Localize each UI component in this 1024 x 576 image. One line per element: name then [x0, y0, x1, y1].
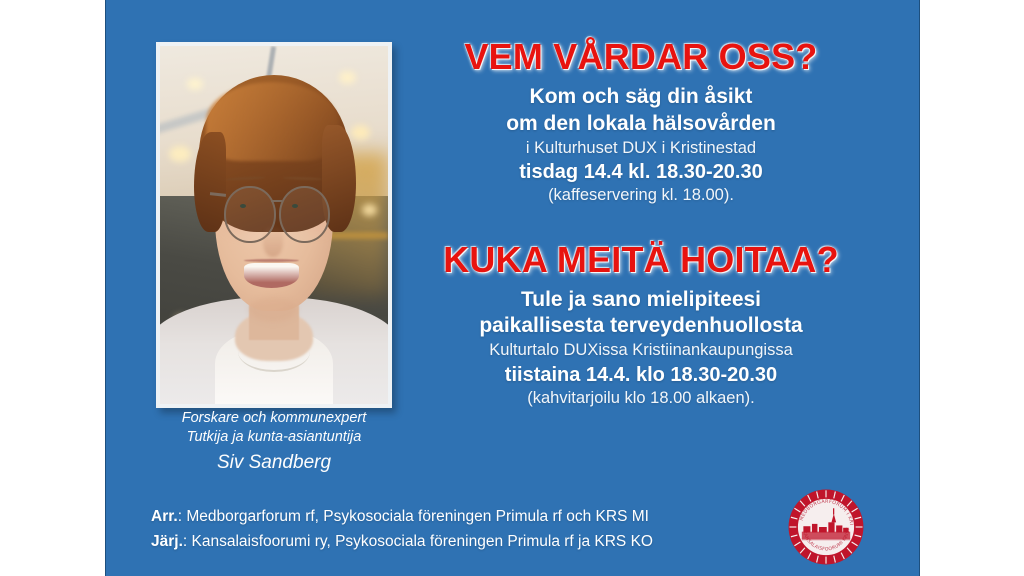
finnish-lead-line-1: Tule ja sano mielipiteesi — [406, 287, 876, 314]
organizers-label-fi: Järj. — [151, 533, 183, 550]
organizers-line-sv: Arr.: Medborgarforum rf, Psykosociala fö… — [151, 504, 771, 529]
finnish-datetime: tiistaina 14.4. klo 18.30-20.30 — [406, 362, 876, 388]
photo-hair-left — [194, 132, 226, 232]
portrait-caption: Forskare och kommunexpert Tutkija ja kun… — [134, 409, 414, 475]
swedish-lead-line-1: Kom och säg din åsikt — [406, 84, 876, 111]
swedish-lead-line-2: om den lokala hälsovården — [406, 111, 876, 138]
portrait-photo-block — [156, 42, 392, 408]
organizers-text-fi: : Kansalaisfoorumi ry, Psykosociala före… — [183, 533, 653, 550]
photo-bokeh-light — [351, 125, 370, 140]
swedish-headline: VEM VÅRDAR OSS? — [406, 38, 876, 76]
organizers-block: Arr.: Medborgarforum rf, Psykosociala fö… — [151, 504, 771, 554]
swedish-venue: i Kulturhuset DUX i Kristinestad — [406, 138, 876, 160]
photo-bokeh-light — [362, 204, 377, 216]
photo-eye-left — [240, 204, 246, 208]
photo-upper-lip — [244, 259, 299, 262]
photo-nose — [263, 225, 284, 257]
finnish-note: (kahvitarjoilu klo 18.00 alkaen). — [406, 388, 876, 409]
poster-slide: Forskare och kommunexpert Tutkija ja kun… — [105, 0, 920, 576]
portrait-photo-frame — [156, 42, 392, 408]
swedish-datetime: tisdag 14.4 kl. 18.30-20.30 — [406, 159, 876, 185]
finnish-headline: KUKA MEITÄ HOITAA? — [406, 241, 876, 279]
organizers-label-sv: Arr. — [151, 508, 178, 525]
caption-role-fi: Tutkija ja kunta-asiantuntija — [134, 428, 414, 447]
finnish-details-block: Tule ja sano mielipiteesi paikallisesta … — [406, 287, 876, 410]
caption-role-sv: Forskare och kommunexpert — [134, 409, 414, 428]
photo-smile — [244, 263, 299, 288]
swedish-details-block: Kom och säg din åsikt om den lokala häls… — [406, 84, 876, 207]
swedish-note: (kaffeservering kl. 18.00). — [406, 185, 876, 206]
organizers-line-fi: Järj.: Kansalaisfoorumi ry, Psykosociala… — [151, 529, 771, 554]
photo-eye-right — [292, 204, 298, 208]
organizers-text-sv: : Medborgarforum rf, Psykosociala föreni… — [178, 508, 649, 525]
photo-chin — [249, 297, 297, 322]
photo-glasses-lens-right — [279, 186, 331, 244]
finnish-venue: Kulturtalo DUXissa Kristiinankaupungissa — [406, 340, 876, 362]
poster-text-column: VEM VÅRDAR OSS? Kom och säg din åsikt om… — [406, 38, 876, 410]
photo-glasses-bridge — [271, 200, 282, 203]
caption-speaker-name: Siv Sandberg — [134, 450, 414, 475]
medborgarforum-seal-logo: MEDBORGARFORUM I KRISTINESTAD KANSALAISF… — [787, 488, 865, 566]
finnish-lead-line-2: paikallisesta terveydenhuollosta — [406, 313, 876, 340]
